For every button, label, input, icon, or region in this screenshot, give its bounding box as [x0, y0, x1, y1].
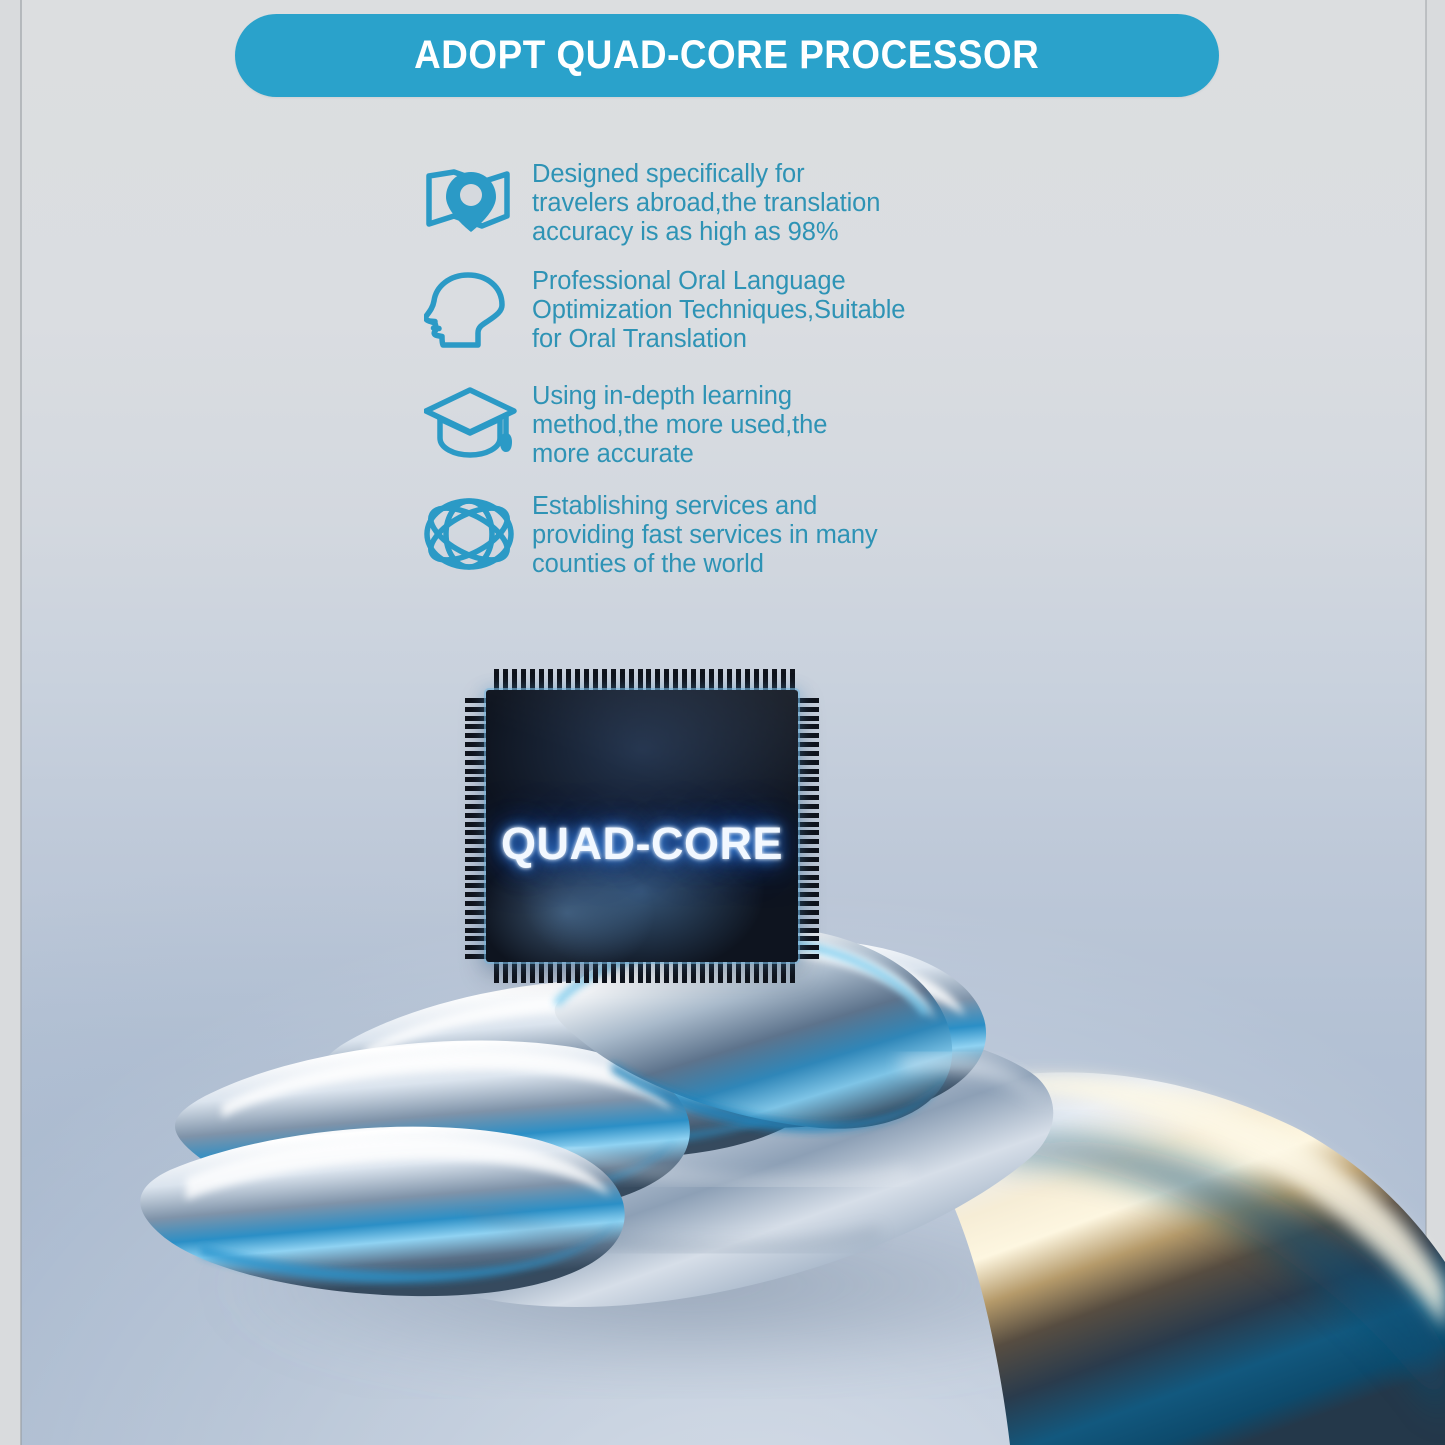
chip-pin: [575, 961, 580, 983]
chip-pin: [797, 795, 819, 800]
chip-pin: [797, 742, 819, 747]
chip-pin: [745, 669, 750, 691]
chip-pin: [465, 813, 487, 818]
chip-pin: [797, 892, 819, 897]
chip-pin: [465, 883, 487, 888]
chip-pin: [465, 875, 487, 880]
chip-pin: [465, 866, 487, 871]
feature-text: Using in-depth learning method,the more …: [532, 380, 827, 468]
feature-item-global-service: Establishing services and providing fast…: [424, 490, 1064, 578]
chip-pin: [593, 961, 598, 983]
chip-pin: [593, 669, 598, 691]
chip-pin: [718, 669, 723, 691]
chip-pin: [465, 769, 487, 774]
chip-pin: [530, 669, 535, 691]
chip-pin: [465, 954, 487, 959]
chip-pin: [557, 669, 562, 691]
chip-pin: [797, 945, 819, 950]
feature-line: Designed specifically for: [532, 160, 880, 189]
map-pin-icon: [424, 158, 532, 234]
chip-pin: [602, 961, 607, 983]
chip-pin: [797, 813, 819, 818]
promotional-poster: ADOPT QUAD-CORE PROCESSOR Designed speci…: [0, 0, 1445, 1445]
feature-item-travel: Designed specifically for travelers abro…: [424, 158, 1064, 246]
chip-pin: [736, 669, 741, 691]
chip-pin: [465, 724, 487, 729]
chip-pin: [629, 669, 634, 691]
chip-pin: [638, 961, 643, 983]
chip-pin: [465, 848, 487, 853]
feature-item-oral-language: Professional Oral Language Optimization …: [424, 265, 1064, 353]
chip-pin: [465, 760, 487, 765]
chip-pin: [539, 961, 544, 983]
chip-pin: [797, 928, 819, 933]
feature-line: Using in-depth learning: [532, 382, 827, 411]
chip-pin: [465, 945, 487, 950]
chip-pin: [673, 669, 678, 691]
chip-pin: [709, 961, 714, 983]
chip-pin: [781, 669, 786, 691]
chip-pin: [465, 804, 487, 809]
chip-pin: [512, 669, 517, 691]
page-title: ADOPT QUAD-CORE PROCESSOR: [414, 33, 1039, 78]
chip-pin: [754, 961, 759, 983]
feature-text: Professional Oral Language Optimization …: [532, 265, 905, 353]
chip-pin: [790, 669, 795, 691]
chip-label: QUAD-CORE: [486, 818, 798, 870]
chip-pin: [566, 669, 571, 691]
chip-pin: [763, 669, 768, 691]
chip-body: QUAD-CORE: [486, 690, 798, 962]
chip-pin: [691, 669, 696, 691]
chip-pin: [664, 669, 669, 691]
chip-pin: [772, 669, 777, 691]
feature-line: travelers abroad,the translation: [532, 189, 880, 218]
chip-pin: [797, 875, 819, 880]
chip-pin: [620, 669, 625, 691]
chip-pin: [465, 742, 487, 747]
chip-pin: [797, 954, 819, 959]
feature-text: Establishing services and providing fast…: [532, 490, 878, 578]
chip-pin: [539, 669, 544, 691]
globe-icon: [424, 490, 532, 572]
chip-pin: [797, 751, 819, 756]
chip-pin: [700, 961, 705, 983]
chip-pin: [521, 961, 526, 983]
chip-pin: [797, 707, 819, 712]
chip-pin: [797, 901, 819, 906]
chip-pin: [664, 961, 669, 983]
chip-pin: [530, 961, 535, 983]
chip-pin: [797, 848, 819, 853]
chip-pin: [465, 751, 487, 756]
feature-text: Designed specifically for travelers abro…: [532, 158, 880, 246]
chip-pin: [797, 839, 819, 844]
chip-pin: [465, 822, 487, 827]
chip-pin: [763, 961, 768, 983]
graduation-cap-icon: [424, 380, 532, 458]
chip-pin: [465, 919, 487, 924]
chip-pin: [465, 901, 487, 906]
header-banner: ADOPT QUAD-CORE PROCESSOR: [235, 14, 1219, 97]
chip-pin: [512, 961, 517, 983]
chip-pin: [465, 936, 487, 941]
plate-left-edge: [20, 0, 22, 1445]
chip-pin: [465, 786, 487, 791]
chip-pin: [557, 961, 562, 983]
chip-pin: [494, 961, 499, 983]
chip-pin: [629, 961, 634, 983]
chip-pin: [620, 961, 625, 983]
chip-pin: [772, 961, 777, 983]
chip-pin: [797, 883, 819, 888]
feature-line: accuracy is as high as 98%: [532, 218, 880, 247]
chip-pin: [465, 698, 487, 703]
chip-pin: [465, 716, 487, 721]
chip-pin: [754, 669, 759, 691]
feature-line: providing fast services in many: [532, 521, 878, 550]
chip-pin: [682, 961, 687, 983]
chip-pin: [465, 777, 487, 782]
chip-pin: [673, 961, 678, 983]
chip-pin: [797, 866, 819, 871]
chip-pin: [465, 733, 487, 738]
chip-pin: [727, 669, 732, 691]
chip-pin: [797, 786, 819, 791]
chip-pin: [797, 830, 819, 835]
chip-pin: [727, 961, 732, 983]
chip-pin: [646, 669, 651, 691]
feature-item-deep-learning: Using in-depth learning method,the more …: [424, 380, 1064, 468]
feature-list: Designed specifically for travelers abro…: [424, 158, 1064, 579]
chip-pin: [797, 724, 819, 729]
chip-pin: [718, 961, 723, 983]
chip-pin: [655, 961, 660, 983]
chip-pin: [584, 669, 589, 691]
chip-pin: [797, 804, 819, 809]
feature-line: Professional Oral Language: [532, 267, 905, 296]
chip-pin: [797, 769, 819, 774]
chip-pin: [465, 795, 487, 800]
chip-pin: [503, 669, 508, 691]
chip-pin: [575, 669, 580, 691]
feature-line: Establishing services and: [532, 492, 878, 521]
head-profile-icon: [424, 265, 532, 349]
chip-pin: [548, 669, 553, 691]
chip-pin: [709, 669, 714, 691]
chip-pin: [691, 961, 696, 983]
chip-pin: [465, 910, 487, 915]
chip-pin: [790, 961, 795, 983]
chip-pin: [494, 669, 499, 691]
processor-chip: QUAD-CORE: [450, 664, 840, 986]
chip-pin: [646, 961, 651, 983]
chip-pin: [797, 777, 819, 782]
chip-pin: [465, 707, 487, 712]
plate-right-edge: [1425, 0, 1427, 1445]
chip-pin: [781, 961, 786, 983]
chip-pin: [797, 698, 819, 703]
chip-pin: [584, 961, 589, 983]
chip-pin: [611, 669, 616, 691]
chip-pin: [465, 839, 487, 844]
chip-pin: [638, 669, 643, 691]
chip-pin: [566, 961, 571, 983]
feature-line: Optimization Techniques,Suitable: [532, 296, 905, 325]
chip-pin: [797, 733, 819, 738]
chip-pin: [602, 669, 607, 691]
chip-pin: [682, 669, 687, 691]
chip-pin: [797, 716, 819, 721]
chip-pin: [503, 961, 508, 983]
chip-pin: [465, 928, 487, 933]
chip-pin: [465, 892, 487, 897]
chip-pin: [797, 919, 819, 924]
chip-pin: [797, 822, 819, 827]
chip-pin: [465, 830, 487, 835]
chip-pin: [797, 936, 819, 941]
chip-pin: [548, 961, 553, 983]
chip-pin: [797, 760, 819, 765]
chip-pin: [736, 961, 741, 983]
feature-line: for Oral Translation: [532, 325, 905, 354]
chip-pin: [465, 857, 487, 862]
chip-pin: [700, 669, 705, 691]
chip-pin: [797, 910, 819, 915]
chip-pin: [521, 669, 526, 691]
feature-line: method,the more used,the: [532, 411, 827, 440]
chip-pin: [655, 669, 660, 691]
feature-line: counties of the world: [532, 550, 878, 579]
chip-pin: [611, 961, 616, 983]
chip-pin: [797, 857, 819, 862]
chip-pin: [745, 961, 750, 983]
feature-line: more accurate: [532, 440, 827, 469]
